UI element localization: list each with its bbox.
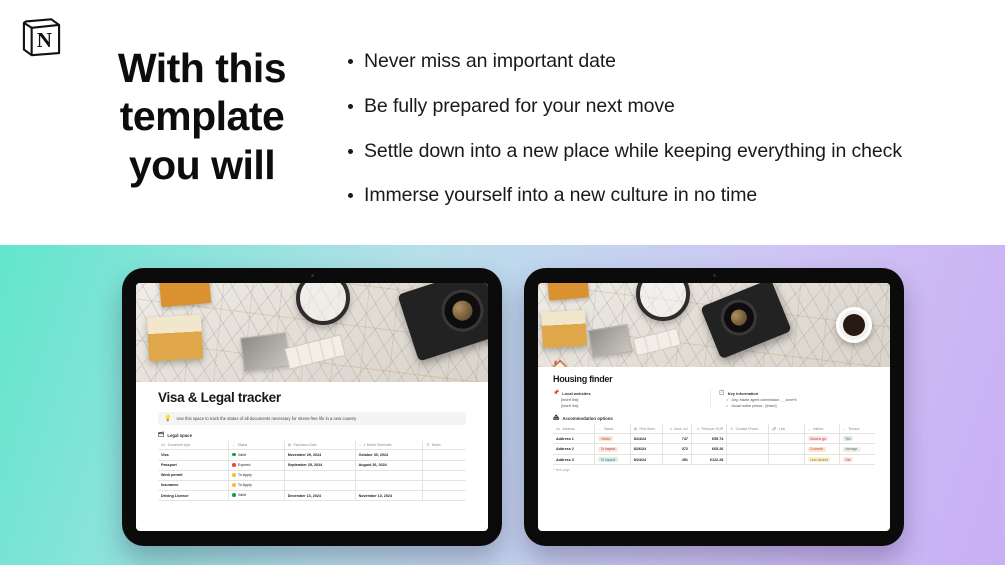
cell-address: Address 2 bbox=[553, 444, 595, 455]
url-icon: 🔗 bbox=[772, 427, 776, 431]
list-item: Never miss an important date bbox=[348, 48, 978, 74]
title-icon: Aa bbox=[161, 443, 165, 447]
info-icon: 📋 bbox=[719, 390, 725, 396]
callout-line[interactable]: [Insert link] bbox=[561, 398, 704, 402]
bullet-dot-icon bbox=[348, 193, 353, 198]
cell-phone bbox=[727, 454, 769, 465]
cell-reminder bbox=[355, 470, 423, 480]
gradient-showcase: Visa & Legal tracker 💡 Use this space to… bbox=[0, 245, 1005, 565]
cell-document: Visa bbox=[158, 450, 229, 460]
cell-rent: €122.28 bbox=[691, 454, 726, 465]
status-badge: Average bbox=[843, 447, 860, 452]
intro-panel: N With this template you will Never miss… bbox=[0, 0, 1005, 245]
tablet-screen-left: Visa & Legal tracker 💡 Use this space to… bbox=[136, 283, 488, 531]
calendar-icon: ▤ bbox=[288, 443, 291, 447]
select-icon: ⌄ bbox=[232, 443, 235, 447]
cell-notes bbox=[423, 491, 466, 501]
title-icon: Aa bbox=[556, 427, 560, 431]
status-badge: Good to go bbox=[808, 436, 829, 441]
cover-photo-icon bbox=[240, 332, 290, 371]
table-row[interactable]: Passport Expired September 25, 2024 Augu… bbox=[158, 460, 466, 470]
lightbulb-icon: 💡 bbox=[164, 416, 171, 422]
callout-heading: Key information bbox=[728, 391, 758, 396]
house-emoji: 🏠 bbox=[552, 360, 568, 367]
column-header-document-type[interactable]: Aa Document type bbox=[158, 441, 229, 450]
housing-table[interactable]: Aa Address ⌄ Status ▤ First Seen # Area,… bbox=[553, 424, 875, 465]
column-header-status[interactable]: ⌄ Status bbox=[595, 424, 630, 433]
cell-reminder: October 30, 2024 bbox=[355, 450, 423, 460]
database-icon: 🗂 bbox=[158, 432, 164, 438]
cell-reminder: November 13, 2024 bbox=[355, 491, 423, 501]
list-item: Immerse yourself into a new culture in n… bbox=[348, 182, 978, 208]
page-cover-image bbox=[136, 283, 488, 382]
list-item-label: Be fully prepared for your next move bbox=[364, 93, 675, 119]
cell-notes bbox=[423, 450, 466, 460]
table-row[interactable]: Address 1 Visited 8/24/24 747 €55.74 Goo… bbox=[553, 433, 875, 444]
bullet-dot-icon bbox=[348, 59, 353, 64]
visa-table[interactable]: Aa Document type ⌄ Status ▤ Expiration D… bbox=[158, 441, 466, 501]
status-badge: Yes bbox=[843, 436, 853, 441]
status-dot-icon bbox=[232, 483, 236, 487]
svg-text:N: N bbox=[37, 28, 52, 52]
list-item-label: Immerse yourself into a new culture in n… bbox=[364, 182, 757, 208]
cell-document: Driving Licence bbox=[158, 491, 229, 501]
new-page-button[interactable]: + New page bbox=[553, 468, 875, 472]
column-header-address[interactable]: Aa Address bbox=[553, 424, 595, 433]
notion-document-right: Housing finder 📌 Local websites [Insert … bbox=[538, 367, 890, 472]
callout-line: Usual notice period - [Insert] bbox=[727, 404, 870, 408]
status-dot-icon bbox=[232, 453, 236, 457]
cell-area: 747 bbox=[662, 433, 691, 444]
table-row[interactable]: Visa Valid November 29, 2024 October 30,… bbox=[158, 450, 466, 460]
cell-expiration: September 25, 2024 bbox=[284, 460, 355, 470]
cell-link bbox=[769, 454, 804, 465]
column-header-rent[interactable]: # Rent per, EUR bbox=[691, 424, 726, 433]
list-item-label: Settle down into a new place while keepi… bbox=[364, 138, 902, 164]
select-icon: ⌄ bbox=[808, 427, 811, 431]
cover-book-icon bbox=[147, 315, 203, 362]
cell-address: Address 1 bbox=[553, 433, 595, 444]
cell-status: To Apply bbox=[229, 480, 284, 490]
status-badge: Old bbox=[843, 457, 853, 462]
column-header-terrace[interactable]: ⌄ Terrace bbox=[840, 424, 876, 433]
cell-link bbox=[769, 433, 804, 444]
bullet-dot-icon bbox=[348, 149, 353, 154]
page-title: With this template you will bbox=[92, 44, 312, 189]
callout-block: 💡 Use this space to track the status of … bbox=[158, 412, 466, 425]
cell-expiration: November 29, 2024 bbox=[284, 450, 355, 460]
phone-icon: ✆ bbox=[730, 427, 733, 431]
number-icon: # bbox=[670, 427, 672, 431]
formula-icon: ⌄ bbox=[359, 443, 362, 447]
column-header-link[interactable]: 🔗 Link bbox=[769, 424, 804, 433]
cell-status: Expired bbox=[229, 460, 284, 470]
select-icon: ⌄ bbox=[843, 427, 846, 431]
notion-document-left: Visa & Legal tracker 💡 Use this space to… bbox=[136, 382, 488, 501]
cell-status: Valid bbox=[229, 491, 284, 501]
table-header-row: Aa Document type ⌄ Status ▤ Expiration D… bbox=[158, 441, 466, 450]
headline-line-3: you will bbox=[92, 141, 312, 189]
column-header-interior[interactable]: ⌄ Interior bbox=[804, 424, 839, 433]
column-header-area[interactable]: # Area, m2 bbox=[662, 424, 691, 433]
callout-local-websites: 📌 Local websites [Insert link] [Insert l… bbox=[553, 390, 711, 408]
status-badge: To Inspect bbox=[598, 457, 617, 462]
number-icon: # bbox=[697, 427, 699, 431]
calendar-icon: ▤ bbox=[634, 427, 637, 431]
cell-rent: €65.26 bbox=[691, 444, 726, 455]
bullet-dot-icon bbox=[348, 104, 353, 109]
column-header-first-seen[interactable]: ▤ First Seen bbox=[630, 424, 662, 433]
status-dot-icon bbox=[232, 493, 236, 497]
cell-first-seen: 8/24/24 bbox=[630, 433, 662, 444]
column-header-phone[interactable]: ✆ Contact Phone bbox=[727, 424, 769, 433]
pin-icon: 📌 bbox=[553, 390, 559, 396]
callout-line: Avg. estate agent commission - _ zone% bbox=[727, 398, 870, 402]
cell-address: Address 3 bbox=[553, 454, 595, 465]
status-badge: To Inspect bbox=[598, 447, 617, 452]
database-name-label: Accommodation options bbox=[562, 416, 612, 421]
text-icon: ☰ bbox=[426, 443, 429, 447]
notion-cube-logo: N bbox=[19, 13, 64, 58]
tablet-visa-tracker: Visa & Legal tracker 💡 Use this space to… bbox=[122, 268, 502, 546]
callout-line[interactable]: [Insert link] bbox=[561, 404, 704, 408]
column-header-status[interactable]: ⌄ Status bbox=[229, 441, 284, 450]
cell-document: Insurance bbox=[158, 480, 229, 490]
status-badge: Visited bbox=[598, 436, 612, 441]
cell-terrace: Yes bbox=[840, 433, 876, 444]
table-header-row: Aa Address ⌄ Status ▤ First Seen # Area,… bbox=[553, 424, 875, 433]
database-title[interactable]: 🗂 Legal space bbox=[158, 432, 466, 438]
cell-status: To Apply bbox=[229, 470, 284, 480]
cell-phone bbox=[727, 433, 769, 444]
cell-status: To Inspect bbox=[595, 444, 630, 455]
callout-key-information: 📋 Key information Avg. estate agent comm… bbox=[719, 390, 876, 408]
column-header-expiration-date[interactable]: ▤ Expiration Date bbox=[284, 441, 355, 450]
headline-line-2: template bbox=[92, 92, 312, 140]
table-row[interactable]: Address 2 To Inspect 8/26/24 372 €65.26 … bbox=[553, 444, 875, 455]
status-badge: Cosmetic bbox=[808, 447, 826, 452]
database-title[interactable]: 🏘 Accommodation options bbox=[553, 415, 875, 421]
cell-notes bbox=[423, 460, 466, 470]
column-header-notes[interactable]: ☰ Notes bbox=[423, 441, 466, 450]
cell-area: 372 bbox=[662, 444, 691, 455]
list-item: Settle down into a new place while keepi… bbox=[348, 138, 978, 164]
cell-notes bbox=[423, 470, 466, 480]
table-row[interactable]: Work permit To Apply bbox=[158, 470, 466, 480]
list-item-label: Never miss an important date bbox=[364, 48, 616, 74]
cell-interior: Cosmetic bbox=[804, 444, 839, 455]
cell-status: Visited bbox=[595, 433, 630, 444]
page-cover-image: 🏠 bbox=[538, 283, 890, 367]
cell-status: To Inspect bbox=[595, 454, 630, 465]
cell-rent: €55.74 bbox=[691, 433, 726, 444]
status-badge: Less desired bbox=[808, 457, 831, 462]
tablet-housing-finder: 🏠 Housing finder 📌 Local websites [Inser… bbox=[524, 268, 904, 546]
list-item: Be fully prepared for your next move bbox=[348, 93, 978, 119]
status-dot-icon bbox=[232, 473, 236, 477]
document-title: Visa & Legal tracker bbox=[158, 390, 466, 405]
callout-text: Use this space to track the status of al… bbox=[176, 416, 356, 421]
callout-heading: Local websites bbox=[562, 391, 590, 396]
status-dot-icon bbox=[232, 463, 236, 467]
cell-notes bbox=[423, 480, 466, 490]
cell-terrace: Old bbox=[840, 454, 876, 465]
cell-reminder: August 26, 2024 bbox=[355, 460, 423, 470]
cell-area: 451 bbox=[662, 454, 691, 465]
callout-columns: 📌 Local websites [Insert link] [Insert l… bbox=[553, 390, 875, 408]
cell-document: Work permit bbox=[158, 470, 229, 480]
cell-interior: Less desired bbox=[804, 454, 839, 465]
database-icon: 🏘 bbox=[553, 415, 559, 421]
select-icon: ⌄ bbox=[598, 427, 601, 431]
database-name-label: Legal space bbox=[167, 433, 192, 438]
cell-first-seen: 8/26/24 bbox=[630, 444, 662, 455]
cell-first-seen: 8/24/24 bbox=[630, 454, 662, 465]
cell-phone bbox=[727, 444, 769, 455]
column-header-reminder[interactable]: ⌄ 1 Month Reminder bbox=[355, 441, 423, 450]
cell-terrace: Average bbox=[840, 444, 876, 455]
cell-expiration: December 13, 2024 bbox=[284, 491, 355, 501]
document-title: Housing finder bbox=[553, 374, 875, 384]
cell-status: Valid bbox=[229, 450, 284, 460]
cell-expiration bbox=[284, 480, 355, 490]
benefits-list: Never miss an important date Be fully pr… bbox=[348, 48, 978, 227]
table-row[interactable]: Address 3 To Inspect 8/24/24 451 €122.28… bbox=[553, 454, 875, 465]
cell-interior: Good to go bbox=[804, 433, 839, 444]
cell-expiration bbox=[284, 470, 355, 480]
cell-reminder bbox=[355, 480, 423, 490]
cover-coffee-icon bbox=[836, 307, 872, 343]
cell-document: Passport bbox=[158, 460, 229, 470]
tablet-screen-right: 🏠 Housing finder 📌 Local websites [Inser… bbox=[538, 283, 890, 531]
cell-link bbox=[769, 444, 804, 455]
table-row[interactable]: Driving Licence Valid December 13, 2024 … bbox=[158, 491, 466, 501]
table-row[interactable]: Insurance To Apply bbox=[158, 480, 466, 490]
headline-line-1: With this bbox=[92, 44, 312, 92]
